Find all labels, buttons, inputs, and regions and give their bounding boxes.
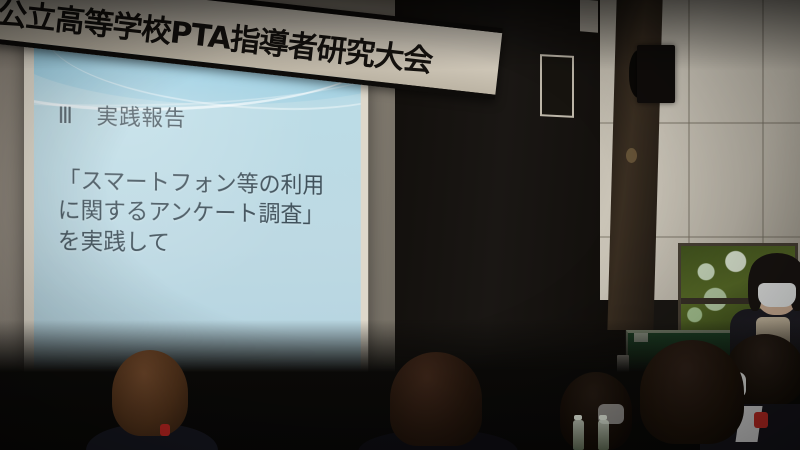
projection-screen: Ⅲ 実践報告 「スマートフォン等の利用 に関するアンケート調査」 を実践して (24, 28, 368, 379)
slide-title: Ⅲ 実践報告 (58, 98, 352, 137)
slide-subtitle-block: 「スマートフォン等の利用 に関するアンケート調査」 を実践して (58, 166, 352, 261)
presentation-slide: Ⅲ 実践報告 「スマートフォン等の利用 に関するアンケート調査」 を実践して (34, 35, 361, 370)
bottle-cap (574, 415, 582, 420)
column-knob (626, 148, 637, 163)
slide-line-2: に関するアンケート調査」 (58, 196, 352, 231)
audience-head-left (112, 350, 188, 436)
water-bottle (573, 420, 584, 450)
face-mask-icon (758, 283, 796, 307)
wall-fixture (580, 0, 598, 33)
ceiling-speaker (637, 45, 675, 103)
red-hair-tie (160, 424, 170, 436)
red-ribbon-badge (754, 412, 768, 428)
audience-head-center (390, 352, 482, 446)
slide-content: Ⅲ 実践報告 「スマートフォン等の利用 に関するアンケート調査」 を実践して (34, 35, 361, 370)
photo-scene: Ⅲ 実践報告 「スマートフォン等の利用 に関するアンケート調査」 を実践して 公… (0, 0, 800, 450)
audience-head-right (640, 340, 744, 444)
wall-light-switch[interactable] (617, 355, 629, 377)
wall-vent (540, 54, 574, 118)
water-bottle (598, 420, 609, 450)
bottle-cap (599, 415, 607, 420)
board-clip (634, 333, 648, 342)
slide-line-3: を実践して (58, 226, 352, 260)
